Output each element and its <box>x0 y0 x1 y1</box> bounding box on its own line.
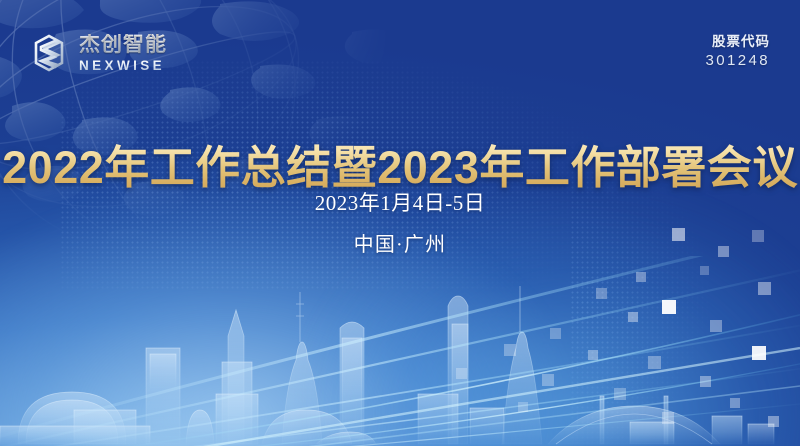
stock-code-block: 股票代码 301248 <box>706 33 770 71</box>
bottom-left-glow <box>0 186 580 446</box>
guangzhou-city-skyline-icon <box>0 276 800 446</box>
bottom-right-glow <box>300 186 800 446</box>
brand-name-cn: 杰创智能 <box>79 34 167 55</box>
event-date: 2023年1月4日-5日 <box>0 187 800 217</box>
light-beam-streaks-icon <box>0 256 800 446</box>
stock-code-label: 股票代码 <box>706 33 770 51</box>
event-location: 中国·广州 <box>0 228 800 257</box>
brand-name-en: NEXWISE <box>79 59 167 73</box>
brand-logo: 杰创智能 NEXWISE <box>28 31 167 75</box>
brand-wordmark: 杰创智能 NEXWISE <box>79 34 167 73</box>
conference-banner: 杰创智能 NEXWISE 股票代码 301248 2022年工作总结暨2023年… <box>0 0 800 446</box>
nexwise-cube-logo-icon <box>28 31 70 75</box>
stock-code-value: 301248 <box>706 51 770 71</box>
